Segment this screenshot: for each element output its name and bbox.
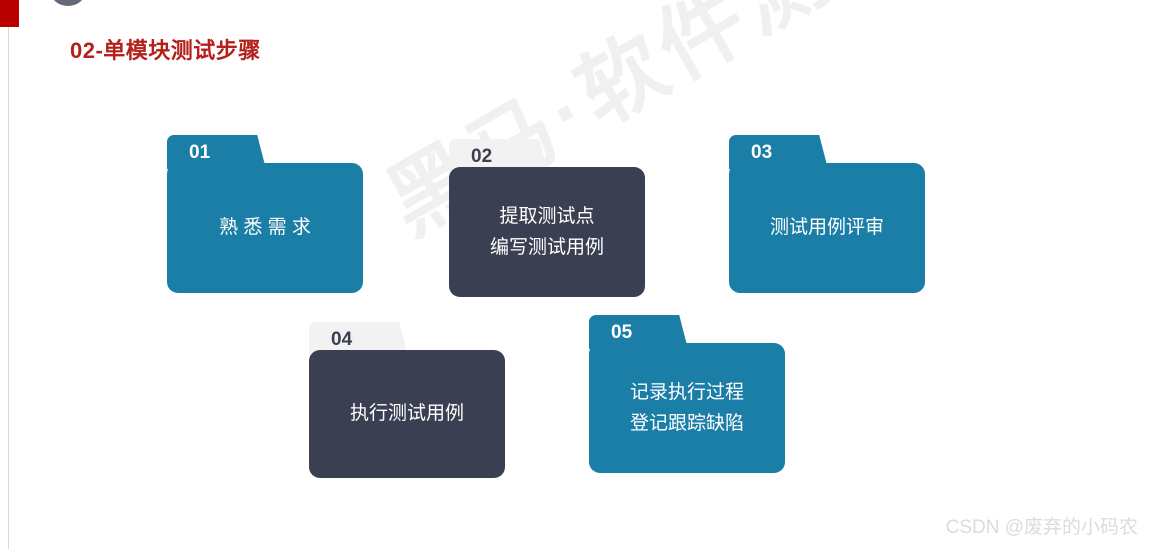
step-card-01-body: 熟 悉 需 求 [167, 163, 363, 293]
step-card-05-body: 记录执行过程 登记跟踪缺陷 [589, 343, 785, 473]
step-card-01-number: 01 [189, 143, 210, 162]
step-card-05-number: 05 [611, 323, 632, 342]
page-title: 02-单模块测试步骤 [70, 33, 261, 65]
step-card-03-number: 03 [751, 143, 772, 162]
top-circle-decoration [50, 0, 86, 6]
slide-canvas: 02-单模块测试步骤 黑马·软件测试 01 熟 悉 需 求 02 提取测试点 编… [0, 0, 1152, 549]
step-card-04-line-1: 执行测试用例 [350, 402, 464, 426]
step-card-03-body: 测试用例评审 [729, 163, 925, 293]
step-card-04-number: 04 [331, 330, 352, 349]
left-margin-rule [8, 0, 9, 549]
step-card-02-body: 提取测试点 编写测试用例 [449, 167, 645, 297]
csdn-watermark: CSDN @废弃的小码农 [946, 512, 1138, 539]
step-card-05-line-1: 记录执行过程 [630, 381, 744, 405]
step-card-05-line-2: 登记跟踪缺陷 [630, 412, 744, 436]
red-accent-block [0, 0, 19, 27]
step-card-01-line-1: 熟 悉 需 求 [219, 216, 311, 240]
step-card-02-line-1: 提取测试点 [499, 205, 594, 229]
step-card-02-number: 02 [471, 147, 492, 166]
step-card-03-line-1: 测试用例评审 [770, 216, 884, 240]
step-card-02-line-2: 编写测试用例 [490, 236, 604, 260]
step-card-04-body: 执行测试用例 [309, 350, 505, 478]
